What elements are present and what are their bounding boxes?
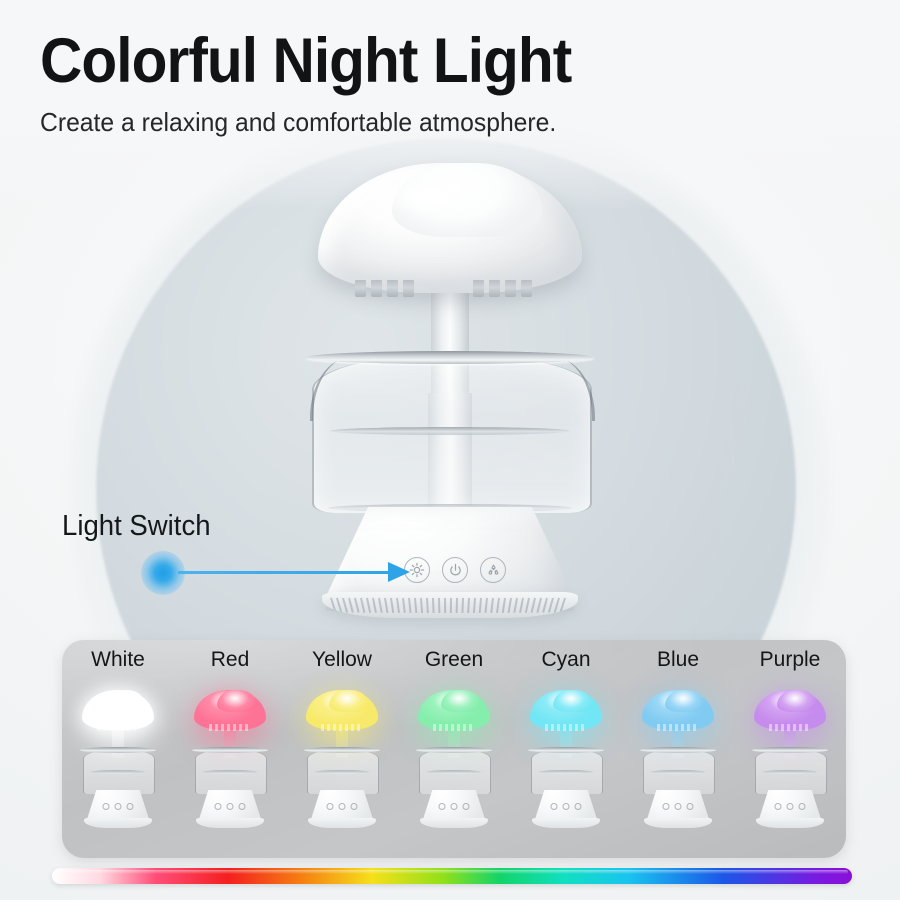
- mini-product-preview: [299, 684, 385, 844]
- mini-light-dot: [103, 803, 110, 810]
- mini-cloud-cap-peak: [553, 690, 593, 712]
- color-swatch-label: Purple: [734, 648, 846, 672]
- mini-control-dots: [327, 803, 358, 810]
- vent-slot: [473, 598, 476, 613]
- vent-slot: [531, 598, 536, 613]
- light-switch-callout-line: [178, 571, 393, 574]
- color-swatch-purple[interactable]: Purple: [734, 640, 846, 858]
- rain-nozzle: [505, 280, 516, 297]
- mini-cloud-cap-peak: [665, 690, 705, 712]
- mini-rain-nozzles: [769, 724, 811, 731]
- vent-slot: [467, 598, 470, 613]
- mini-cloud-cap-peak: [105, 690, 145, 712]
- tank-flare-left: [310, 357, 369, 421]
- rain-nozzles: [355, 280, 545, 302]
- mini-tank-rim: [304, 747, 380, 753]
- mini-light-dot: [215, 803, 222, 810]
- mini-cloud-cap-peak: [217, 690, 257, 712]
- mini-tank-rim: [416, 747, 492, 753]
- mini-base-vent: [196, 818, 264, 828]
- mini-cloud-cap-peak: [777, 690, 817, 712]
- rain-nozzle: [521, 280, 532, 297]
- tank-flare-right: [536, 357, 595, 421]
- color-swatch-label: Cyan: [510, 648, 622, 672]
- color-swatch-red[interactable]: Red: [174, 640, 286, 858]
- color-swatch-list: WhiteRedYellowGreenCyanBluePurple: [62, 640, 846, 858]
- vent-slot: [490, 598, 494, 613]
- rgb-gradient-bar: [52, 868, 852, 884]
- mini-base-vent: [644, 818, 712, 828]
- mini-tank-rim: [752, 747, 828, 753]
- mini-base-vent: [532, 818, 600, 828]
- mini-base-vent: [756, 818, 824, 828]
- mini-water-line: [427, 770, 481, 774]
- mini-cloud-cap-peak: [441, 690, 481, 712]
- vent-slot: [408, 598, 412, 613]
- mini-light-dot: [663, 803, 670, 810]
- vent-slot: [502, 598, 506, 613]
- mini-mist-dot: [351, 803, 358, 810]
- vent-slot: [330, 598, 336, 613]
- mini-control-dots: [439, 803, 470, 810]
- mini-light-dot: [439, 803, 446, 810]
- mini-base-vent: [420, 818, 488, 828]
- color-swatch-cyan[interactable]: Cyan: [510, 640, 622, 858]
- vent-slot: [378, 598, 383, 613]
- mini-rain-nozzles: [545, 724, 587, 731]
- color-swatch-yellow[interactable]: Yellow: [286, 640, 398, 858]
- color-swatch-label: Blue: [622, 648, 734, 672]
- mini-power-dot: [451, 803, 458, 810]
- mini-control-dots: [215, 803, 246, 810]
- vent-slot: [525, 598, 530, 613]
- mini-water-line: [203, 770, 257, 774]
- product-base-vent: [322, 592, 578, 618]
- vent-slot: [366, 598, 371, 613]
- vent-slot: [420, 598, 423, 613]
- mini-mist-dot: [687, 803, 694, 810]
- mini-water-line: [315, 770, 369, 774]
- mini-rain-nozzles: [321, 724, 363, 731]
- mini-rain-nozzles: [657, 724, 699, 731]
- light-switch-callout-label: Light Switch: [62, 510, 211, 543]
- power-button[interactable]: [442, 557, 468, 583]
- vent-slot: [513, 598, 518, 613]
- color-swatch-label: Green: [398, 648, 510, 672]
- product-marketing-image: Colorful Night Light Create a relaxing a…: [0, 0, 900, 900]
- mini-product-preview: [747, 684, 833, 844]
- page-title: Colorful Night Light: [40, 30, 571, 93]
- rain-nozzle: [473, 280, 484, 297]
- vent-slot: [432, 598, 435, 613]
- color-swatch-panel: WhiteRedYellowGreenCyanBluePurple: [62, 640, 846, 858]
- mist-button[interactable]: [480, 557, 506, 583]
- vent-slot: [342, 598, 348, 613]
- mini-water-line: [539, 770, 593, 774]
- vent-slot: [354, 598, 360, 613]
- color-swatch-label: White: [62, 648, 174, 672]
- vent-slot: [360, 598, 365, 613]
- mini-tank-rim: [80, 747, 156, 753]
- vent-slot: [372, 598, 377, 613]
- tank-water-line: [330, 427, 570, 435]
- mini-product-preview: [411, 684, 497, 844]
- vent-slot: [384, 598, 388, 613]
- sun-brightness-icon: [409, 562, 425, 578]
- mini-power-dot: [675, 803, 682, 810]
- mini-light-dot: [775, 803, 782, 810]
- vent-slot: [479, 598, 482, 613]
- mini-rain-nozzles: [209, 724, 251, 731]
- mini-product-preview: [75, 684, 161, 844]
- rain-nozzle: [403, 280, 414, 297]
- page-subtitle: Create a relaxing and comfortable atmosp…: [40, 108, 556, 137]
- vent-slot: [390, 598, 394, 613]
- vent-slot: [496, 598, 500, 613]
- mini-base-vent: [84, 818, 152, 828]
- vent-slot: [456, 598, 458, 613]
- vent-slot: [508, 598, 512, 613]
- vent-slot: [560, 598, 566, 613]
- control-button-row: [404, 557, 504, 583]
- rain-nozzle: [355, 280, 366, 297]
- mini-product-preview: [523, 684, 609, 844]
- mini-product-preview: [187, 684, 273, 844]
- vent-slot: [336, 598, 342, 613]
- mini-tank-rim: [528, 747, 604, 753]
- mini-mist-dot: [799, 803, 806, 810]
- rain-nozzle: [371, 280, 382, 297]
- mini-power-dot: [339, 803, 346, 810]
- light-switch-callout-arrow: [388, 562, 410, 582]
- vent-slot: [438, 598, 440, 613]
- vent-slot: [444, 598, 446, 613]
- mini-power-dot: [115, 803, 122, 810]
- cloud-cap: [318, 163, 582, 293]
- mini-rain-nozzles: [433, 724, 475, 731]
- power-icon: [448, 563, 463, 578]
- color-swatch-white[interactable]: White: [62, 640, 174, 858]
- color-swatch-label: Yellow: [286, 648, 398, 672]
- rain-nozzle: [387, 280, 398, 297]
- rgb-gradient-gloss: [56, 870, 848, 874]
- rain-nozzle: [489, 280, 500, 297]
- mini-tank-rim: [640, 747, 716, 753]
- vent-slot: [536, 598, 542, 613]
- mist-droplets-icon: [486, 563, 501, 578]
- mini-product-preview: [635, 684, 721, 844]
- mini-base-vent: [308, 818, 376, 828]
- mini-rain-nozzles: [97, 724, 139, 731]
- color-swatch-label: Red: [174, 648, 286, 672]
- product-image: [300, 155, 600, 630]
- vent-slot: [519, 598, 524, 613]
- vent-slot: [542, 598, 548, 613]
- vent-slot: [450, 598, 452, 613]
- mini-power-dot: [563, 803, 570, 810]
- mini-mist-dot: [575, 803, 582, 810]
- vent-slot: [461, 598, 464, 613]
- vent-slot: [426, 598, 429, 613]
- mini-water-line: [91, 770, 145, 774]
- mini-mist-dot: [239, 803, 246, 810]
- vent-slot: [402, 598, 406, 613]
- mini-cloud-cap-peak: [329, 690, 369, 712]
- vent-slot: [348, 598, 354, 613]
- mini-control-dots: [775, 803, 806, 810]
- tank-rim: [306, 351, 594, 364]
- mini-water-line: [763, 770, 817, 774]
- mini-tank-rim: [192, 747, 268, 753]
- mini-power-dot: [227, 803, 234, 810]
- cloud-cap-highlight: [370, 177, 482, 217]
- color-swatch-green[interactable]: Green: [398, 640, 510, 858]
- mini-control-dots: [103, 803, 134, 810]
- mini-mist-dot: [127, 803, 134, 810]
- mini-mist-dot: [463, 803, 470, 810]
- mini-water-line: [651, 770, 705, 774]
- vent-slot: [484, 598, 488, 613]
- mini-light-dot: [327, 803, 334, 810]
- color-swatch-blue[interactable]: Blue: [622, 640, 734, 858]
- mini-control-dots: [551, 803, 582, 810]
- mini-power-dot: [787, 803, 794, 810]
- vent-slot: [414, 598, 417, 613]
- mini-light-dot: [551, 803, 558, 810]
- mini-control-dots: [663, 803, 694, 810]
- vent-slot: [396, 598, 400, 613]
